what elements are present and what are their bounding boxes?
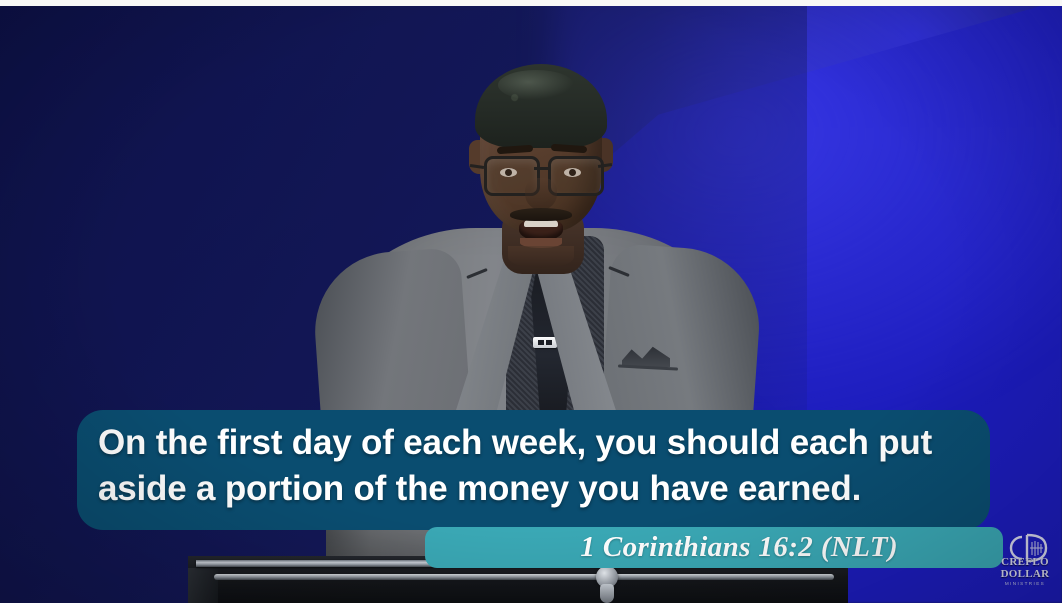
- logo-wordmark: CREFLO DOLLAR: [996, 557, 1054, 580]
- letterbox-strip-top: [0, 0, 1062, 6]
- scripture-caption-box: On the first day of each week, you shoul…: [77, 410, 990, 530]
- teeth: [524, 220, 558, 227]
- hair-highlight: [498, 70, 574, 100]
- logo-line-2: DOLLAR: [996, 569, 1054, 581]
- mustache: [510, 208, 572, 221]
- logo-subtitle: MINISTRIES: [996, 581, 1054, 586]
- chin: [508, 246, 574, 268]
- glasses-bridge: [534, 167, 550, 170]
- podium-left-edge: [188, 568, 218, 603]
- tie-clip-mic: [533, 337, 557, 348]
- broadcast-frame: On the first day of each week, you shoul…: [0, 0, 1062, 603]
- nose: [525, 178, 557, 210]
- caption-line-2: aside a portion of the money you have ea…: [98, 466, 974, 512]
- scripture-citation-bar: 1 Corinthians 16:2 (NLT): [425, 527, 1003, 568]
- caption-line-1: On the first day of each week, you shoul…: [98, 420, 974, 466]
- scripture-caption-text: On the first day of each week, you shoul…: [98, 420, 974, 512]
- podium-emblem-stem: [600, 584, 614, 603]
- logo-line-1: CREFLO: [996, 557, 1054, 569]
- podium-rail: [214, 574, 834, 580]
- scripture-reference: 1 Corinthians 16:2 (NLT): [580, 531, 1003, 564]
- ministry-logo: CREFLO DOLLAR MINISTRIES: [996, 531, 1054, 597]
